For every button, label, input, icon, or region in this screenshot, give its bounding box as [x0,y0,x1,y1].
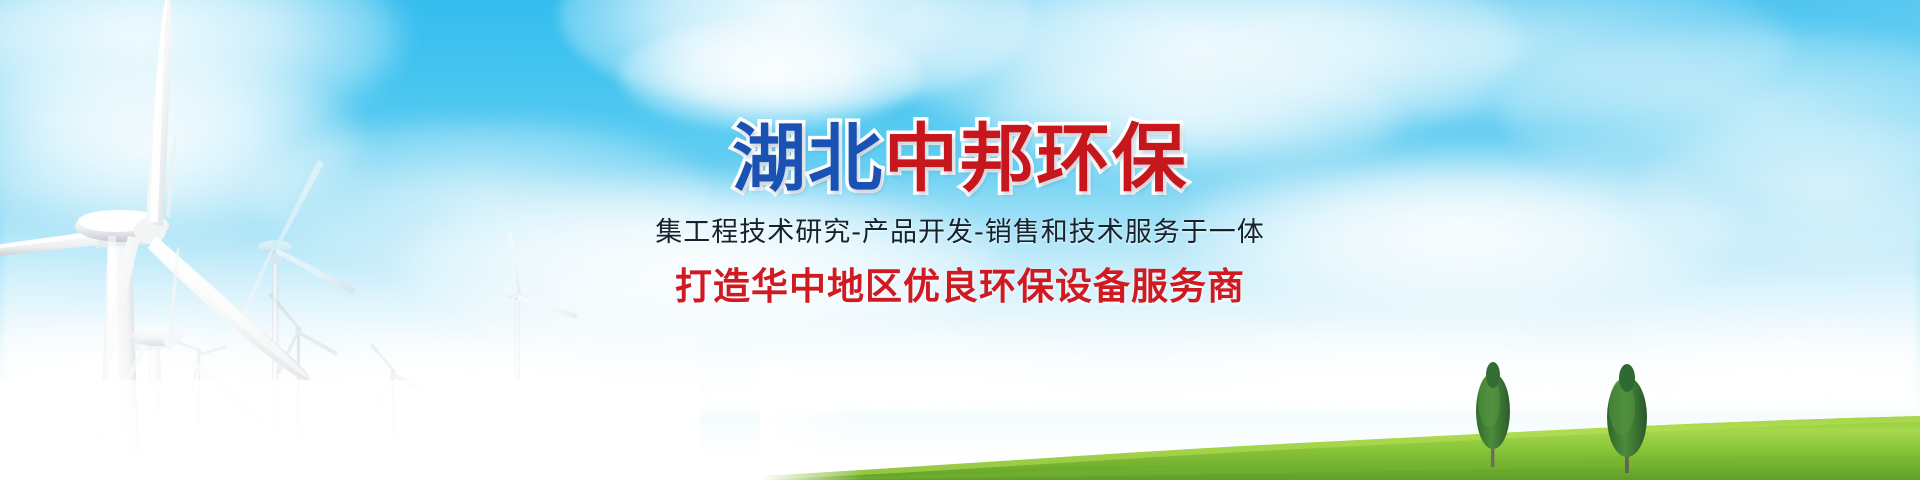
grass-hill-shape [760,360,1920,480]
tree-crown [1619,364,1635,392]
grass-left-fade [760,360,1920,480]
turbine-ground-fade [0,380,700,480]
tree-left [1466,357,1520,467]
promo-banner: 湖北中邦环保 集工程技术研究-产品开发-销售和技术服务于一体 打造华中地区优良环… [0,0,1920,480]
wind-turbine-farm-illustration [0,0,700,480]
conifer-tree-icon [1596,361,1658,473]
turbine-blade-sliver [166,133,176,218]
wind-turbine-group [0,0,700,480]
conifer-tree-icon [1466,357,1520,467]
grass-field [760,360,1920,480]
tree-right [1596,361,1658,473]
tree-crown [1486,362,1500,388]
